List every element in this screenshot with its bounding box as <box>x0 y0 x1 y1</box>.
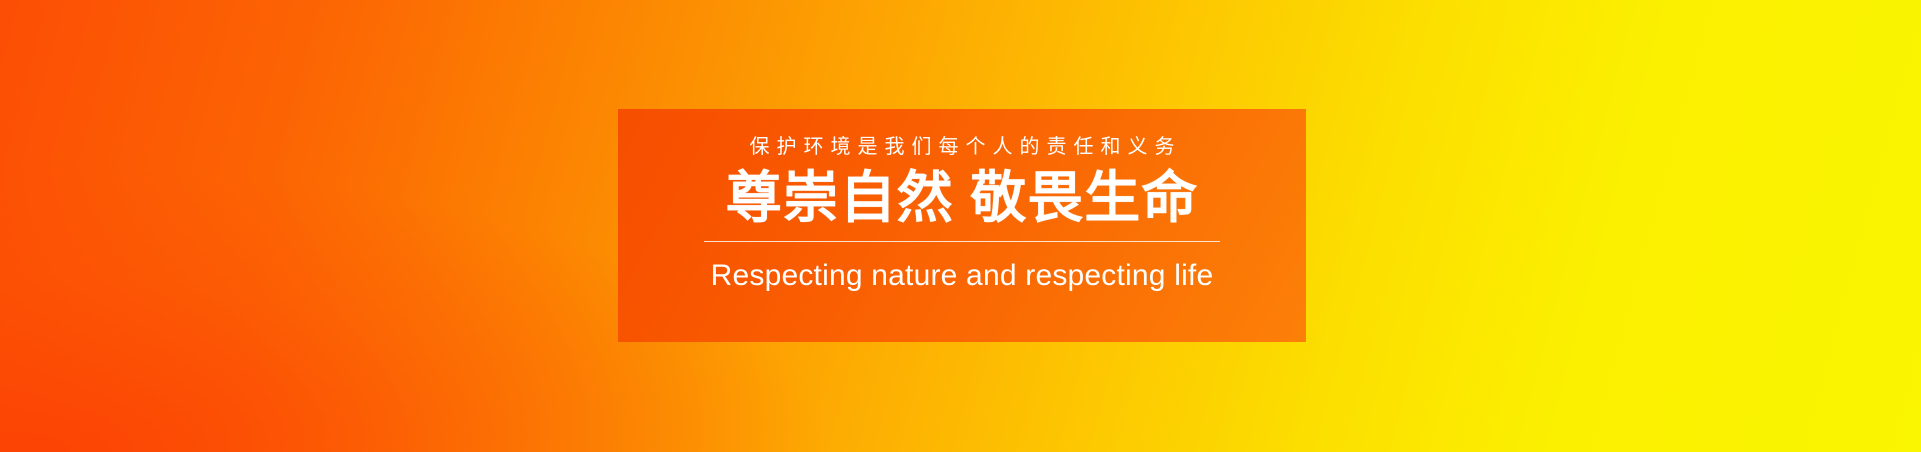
horizontal-divider-line <box>704 241 1220 242</box>
eco-slogan-banner: 保护环境是我们每个人的责任和义务 尊崇自然 敬畏生命 Respecting na… <box>0 0 1921 452</box>
slogan-subtitle-text: Respecting nature and respecting life <box>618 256 1306 296</box>
slogan-headline-text: 尊崇自然 敬畏生命 <box>618 165 1306 231</box>
slogan-eyebrow-text: 保护环境是我们每个人的责任和义务 <box>618 133 1306 161</box>
divider-container <box>618 241 1306 242</box>
slogan-panel: 保护环境是我们每个人的责任和义务 尊崇自然 敬畏生命 Respecting na… <box>618 109 1306 342</box>
slogan-text-block: 保护环境是我们每个人的责任和义务 尊崇自然 敬畏生命 Respecting na… <box>618 133 1306 296</box>
